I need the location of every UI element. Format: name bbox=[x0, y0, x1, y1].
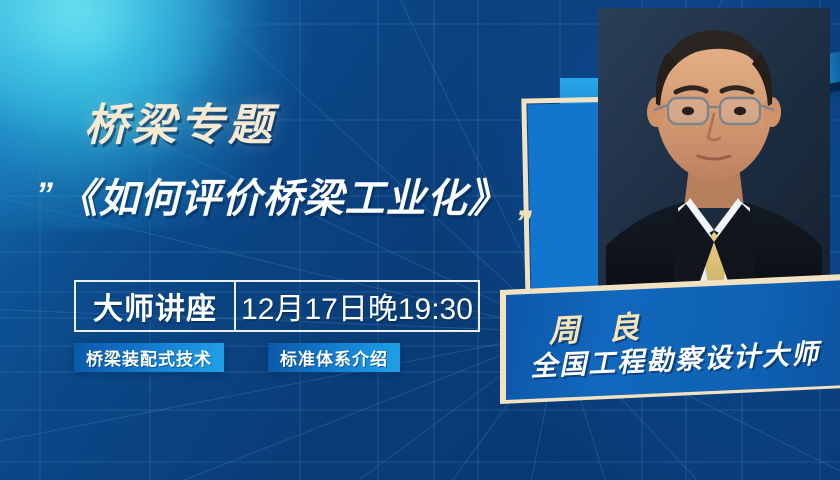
close-quote-icon: ” bbox=[515, 206, 530, 240]
subtitle: 《如何评价桥梁工业化》 bbox=[57, 176, 508, 222]
lecture-datetime: 12月17日晚19:30 bbox=[241, 284, 473, 328]
tag-chip[interactable]: 桥梁装配式技术 bbox=[74, 343, 224, 372]
lecture-datetime-cell: 12月17日晚19:30 bbox=[236, 282, 478, 330]
lecture-info-box: 大师讲座 12月17日晚19:30 bbox=[74, 280, 480, 332]
tag-chip[interactable]: 标准体系介绍 bbox=[268, 343, 400, 372]
tag-chip-label: 桥梁装配式技术 bbox=[86, 345, 212, 370]
poster-canvas: 周 良 全国工程勘察设计大师 桥梁专题 ” 《如何评价桥梁工业化》 ” 大师讲座… bbox=[0, 0, 840, 480]
page-title: 桥梁专题 bbox=[84, 104, 276, 148]
speaker-portrait bbox=[598, 8, 830, 298]
open-quote-icon: ” bbox=[36, 178, 51, 212]
tag-chip-list: 桥梁装配式技术 标准体系介绍 bbox=[74, 343, 400, 372]
tag-chip-label: 标准体系介绍 bbox=[280, 345, 388, 370]
name-plate-text-group: 周 良 全国工程勘察设计大师 bbox=[500, 258, 840, 414]
lecture-label-cell: 大师讲座 bbox=[76, 282, 236, 330]
lecture-label: 大师讲座 bbox=[93, 284, 217, 328]
subtitle-group: ” 《如何评价桥梁工业化》 ” bbox=[36, 176, 530, 222]
